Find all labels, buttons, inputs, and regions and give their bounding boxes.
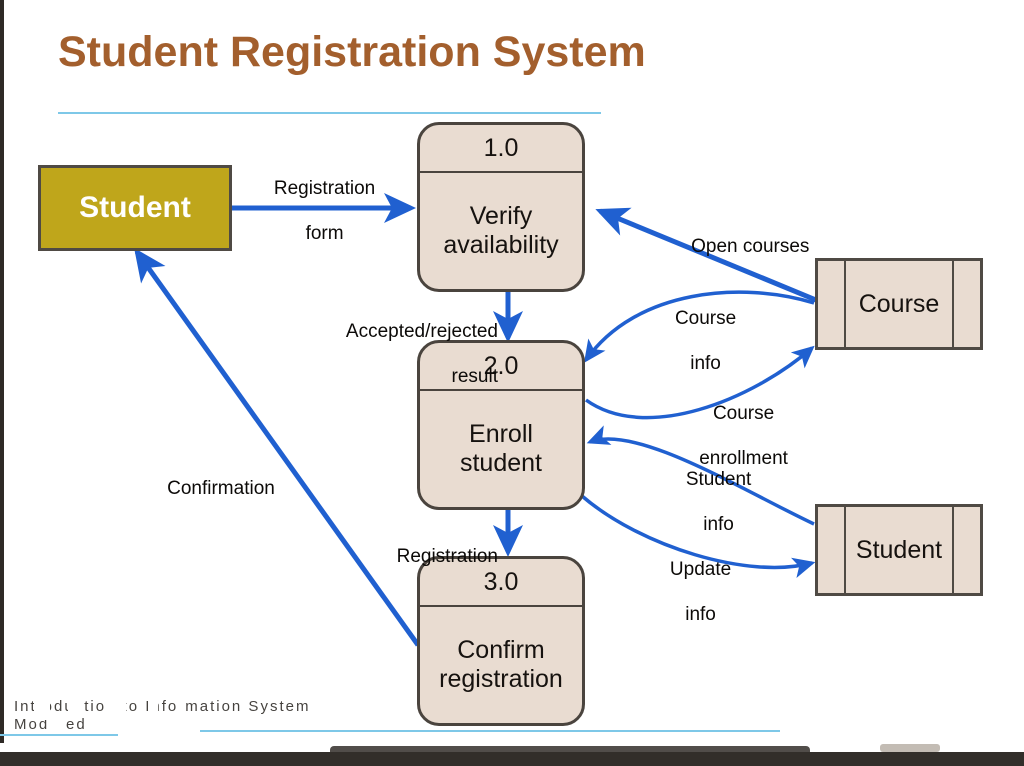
flow-label-accepted-rejected-result-line1: Accepted/rejected (346, 321, 498, 342)
flow-label-accepted-rejected-result: Accepted/rejected result (320, 298, 498, 412)
flow-label-update-info-line2: info (685, 604, 716, 625)
slide-bottom-edge (0, 752, 1024, 766)
footer-mask (92, 718, 132, 740)
footer-rule-left (0, 734, 118, 736)
flow-label-confirmation-line1: Confirmation (167, 478, 275, 499)
process-1-name: Verify availability (420, 173, 582, 289)
process-1-name-line1: Verify (470, 202, 533, 230)
data-store-student-label: Student (856, 536, 942, 565)
flow-label-open-courses-line1: Open courses (691, 236, 809, 257)
footer-mask (148, 698, 158, 712)
data-store-student-left-bar (844, 507, 846, 593)
process-1-name-line2: availability (443, 231, 558, 259)
footer-mask (158, 718, 184, 738)
slide-canvas: Student Registration System (0, 0, 1024, 766)
flow-label-registration-form-line2: form (306, 223, 344, 244)
footer-artifact-mark (880, 744, 940, 752)
flow-label-course-enrollment-line1: Course (713, 403, 774, 424)
process-2-name-line2: student (460, 449, 542, 477)
process-1-number: 1.0 (420, 125, 582, 173)
external-entity-student[interactable]: Student (38, 165, 232, 251)
flow-label-update-info-line1: Update (670, 559, 731, 580)
process-3-name-line2: registration (439, 665, 563, 693)
footer-rule-right (200, 730, 780, 732)
process-1-verify-availability[interactable]: 1.0 Verify availability (417, 122, 585, 292)
footer-mask (104, 701, 126, 717)
flow-label-student-info-line2: info (703, 514, 734, 535)
flow-label-registration: Registration (358, 523, 498, 591)
process-2-name-line1: Enroll (469, 420, 533, 448)
data-store-student-right-bar (952, 507, 954, 593)
flow-label-course-info-line1: Course (675, 308, 736, 329)
external-entity-student-label: Student (79, 191, 191, 225)
slide-left-edge (0, 0, 4, 743)
footer-mask (34, 698, 50, 720)
page-title: Student Registration System (58, 28, 646, 77)
flow-label-registration-form-line1: Registration (274, 178, 375, 199)
footer-line-1: Introduction to Information Systems (14, 698, 308, 715)
process-3-name: Confirm registration (420, 607, 582, 723)
flow-label-registration-form: Registration form (248, 155, 380, 269)
flow-label-course-info-line2: info (690, 353, 721, 374)
data-store-student[interactable]: Student (815, 504, 983, 596)
flow-label-open-courses: Open courses (670, 213, 850, 281)
data-store-course-right-bar (952, 261, 954, 347)
flow-label-accepted-rejected-result-line2: result (452, 366, 498, 387)
flow-label-update-info: Update info (630, 536, 750, 650)
title-underline-rule (58, 112, 601, 114)
flow-label-confirmation: Confirmation (146, 455, 316, 523)
data-store-course-label: Course (859, 290, 940, 319)
process-3-name-line1: Confirm (457, 636, 545, 664)
flow-label-registration-line1: Registration (397, 546, 498, 567)
flow-label-student-info-line1: Student (686, 469, 752, 490)
footer-mask (68, 700, 82, 718)
